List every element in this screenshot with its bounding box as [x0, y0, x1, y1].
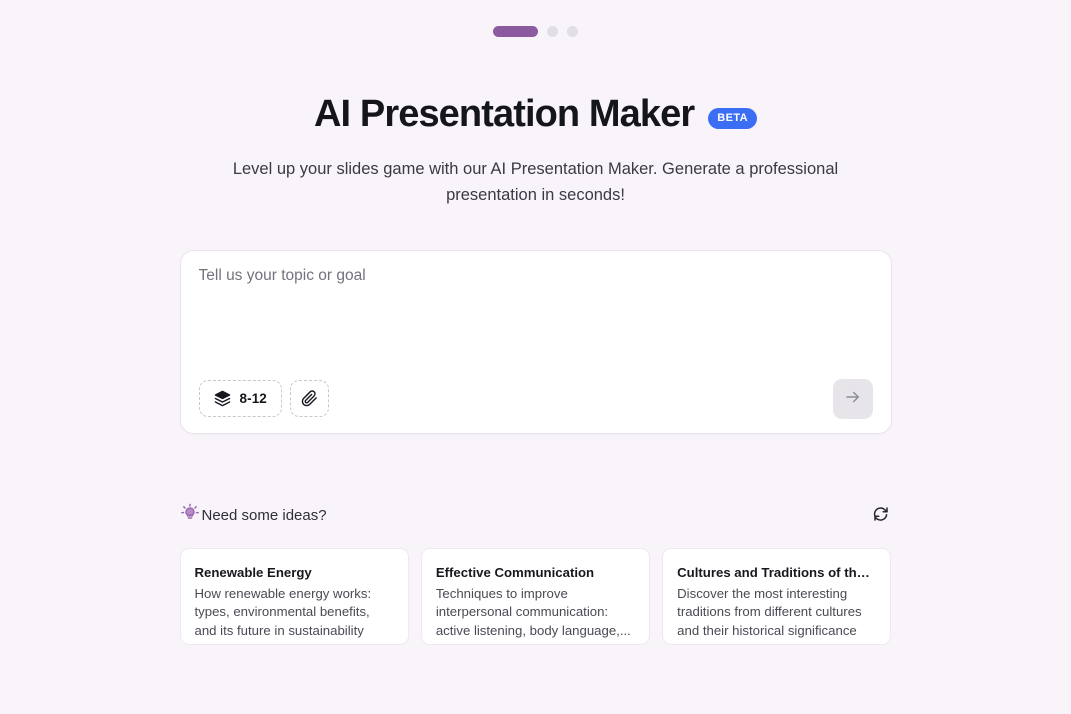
prompt-toolbar: 8-12 — [199, 379, 873, 419]
ideas-grid: Renewable Energy How renewable energy wo… — [180, 548, 892, 645]
prompt-toolbar-left: 8-12 — [199, 380, 329, 417]
arrow-right-icon — [844, 388, 862, 409]
idea-card-title: Effective Communication — [436, 563, 635, 582]
refresh-icon — [872, 505, 890, 526]
idea-card-title: Renewable Energy — [195, 563, 394, 582]
pagination-dot-2[interactable] — [547, 26, 558, 37]
page-title: AI Presentation Maker — [314, 94, 694, 136]
submit-button[interactable] — [833, 379, 873, 419]
ideas-label: Need some ideas? — [180, 503, 327, 528]
topic-input[interactable] — [199, 265, 873, 365]
ideas-label-text: Need some ideas? — [202, 507, 327, 524]
idea-card[interactable]: Effective Communication Techniques to im… — [421, 548, 650, 645]
ideas-section: Need some ideas? Renewable Energy How re… — [180, 504, 892, 645]
slide-count-label: 8-12 — [240, 391, 267, 406]
idea-card-description: Techniques to improve interpersonal comm… — [436, 585, 635, 641]
ai-presentation-maker-page: AI Presentation Maker BETA Level up your… — [0, 0, 1071, 714]
ideas-header: Need some ideas? — [180, 504, 892, 528]
beta-badge: BETA — [708, 108, 757, 129]
idea-card-description: Discover the most interesting traditions… — [677, 585, 876, 641]
idea-card-description: How renewable energy works: types, envir… — [195, 585, 394, 641]
carousel-pagination[interactable] — [493, 24, 578, 38]
attach-file-button[interactable] — [290, 380, 329, 417]
idea-card-title: Cultures and Traditions of the W... — [677, 563, 876, 582]
idea-card[interactable]: Cultures and Traditions of the W... Disc… — [662, 548, 891, 645]
page-subtitle: Level up your slides game with our AI Pr… — [216, 156, 856, 208]
lightbulb-icon — [180, 503, 200, 528]
layers-icon — [214, 390, 231, 407]
refresh-ideas-button[interactable] — [870, 503, 892, 528]
paperclip-icon — [301, 390, 318, 407]
prompt-card: 8-12 — [180, 250, 892, 434]
pagination-dot-1[interactable] — [493, 26, 538, 37]
page-heading: AI Presentation Maker BETA — [314, 94, 757, 136]
pagination-dot-3[interactable] — [567, 26, 578, 37]
idea-card[interactable]: Renewable Energy How renewable energy wo… — [180, 548, 409, 645]
slide-count-button[interactable]: 8-12 — [199, 380, 282, 417]
